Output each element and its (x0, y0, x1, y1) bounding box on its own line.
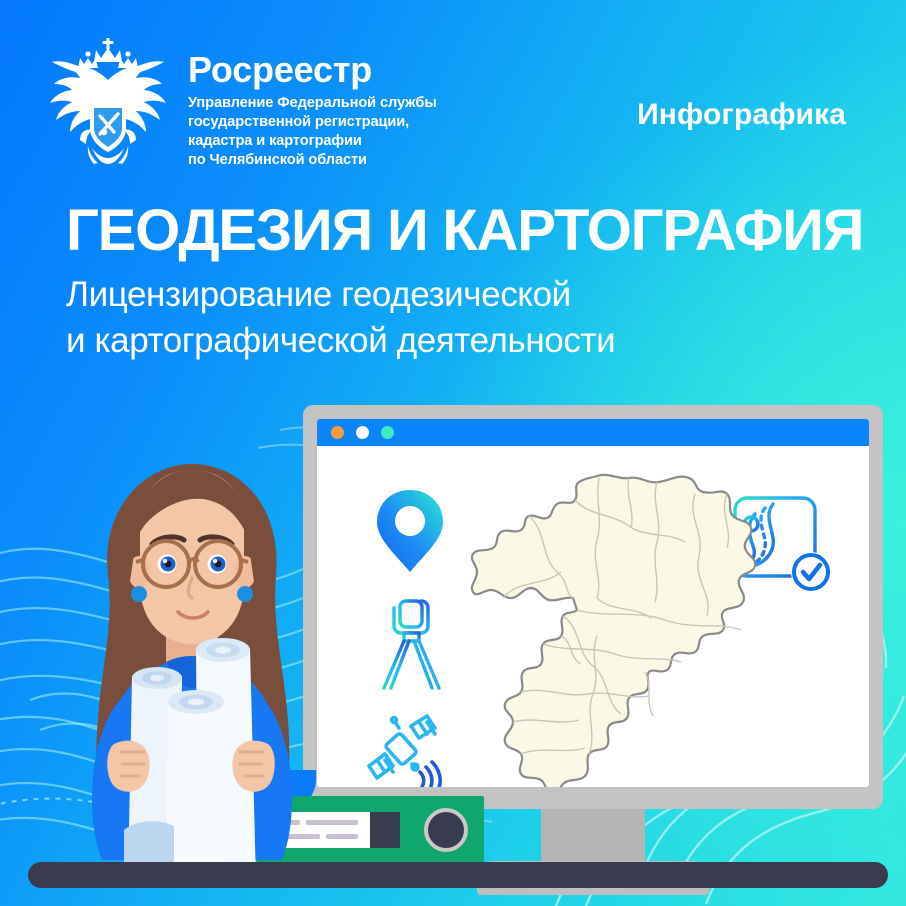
brand-name: Росреестр (188, 52, 437, 88)
infographics-badge: Инфографика (637, 98, 846, 132)
brand-subtitle-line-3: кадастра и картографии (188, 132, 437, 151)
monitor-screen (317, 419, 869, 787)
computer-monitor (303, 405, 883, 809)
page-subtitle: Лицензирование геодезической и картограф… (66, 272, 866, 363)
satellite-icon[interactable] (365, 714, 453, 787)
brand-subtitle-line-4: по Челябинской области (188, 151, 437, 170)
browser-titlebar (317, 419, 869, 446)
brand-subtitle-line-2: государственной регистрации, (188, 113, 437, 132)
minimize-dot[interactable] (356, 426, 369, 439)
brand-header: Росреестр Управление Федеральной службы … (44, 36, 437, 170)
page-subtitle-line-1: Лицензирование геодезической (66, 272, 866, 318)
monitor-stand-neck (541, 807, 645, 865)
page-title: ГЕОДЕЗИЯ И КАРТОГРАФИЯ (66, 202, 886, 260)
browser-content (317, 446, 869, 787)
desk-bar (28, 862, 888, 888)
device-lens (424, 808, 468, 852)
maximize-dot[interactable] (381, 426, 394, 439)
russian-double-headed-eagle-emblem (44, 36, 172, 168)
page-subtitle-line-2: и картографической деятельности (66, 318, 866, 364)
infographic-poster: Росреестр Управление Федеральной службы … (0, 0, 906, 906)
close-dot[interactable] (331, 426, 344, 439)
brand-subtitle: Управление Федеральной службы государств… (188, 94, 437, 170)
brand-subtitle-line-1: Управление Федеральной службы (188, 94, 437, 113)
device-slot (370, 812, 400, 848)
theodolite-tripod-icon[interactable] (375, 596, 453, 692)
surveyor-woman-illustration (40, 452, 340, 882)
map-pin-icon[interactable] (375, 488, 445, 574)
chelyabinsk-oblast-map (469, 470, 769, 787)
